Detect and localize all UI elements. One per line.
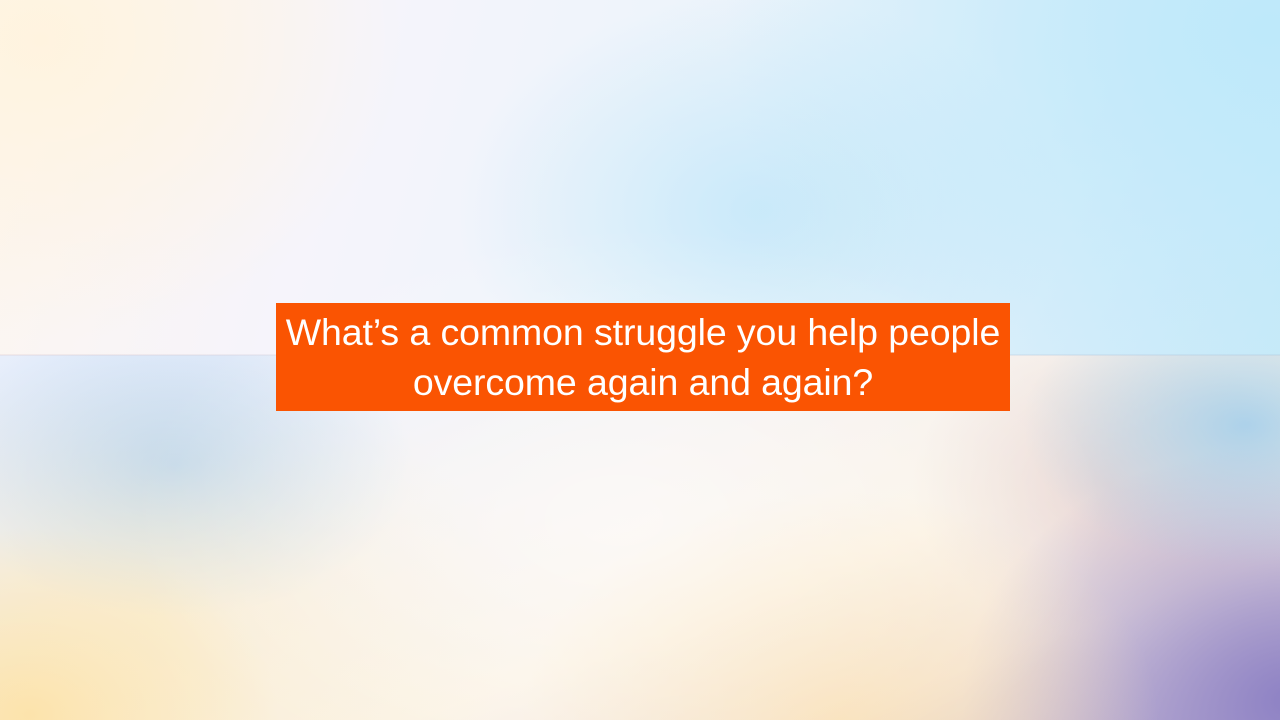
background-upper-band: [0, 0, 1280, 355]
caption-text: What’s a common struggle you help people…: [282, 307, 1004, 407]
caption-banner: What’s a common struggle you help people…: [276, 303, 1010, 411]
slide-canvas: What’s a common struggle you help people…: [0, 0, 1280, 720]
